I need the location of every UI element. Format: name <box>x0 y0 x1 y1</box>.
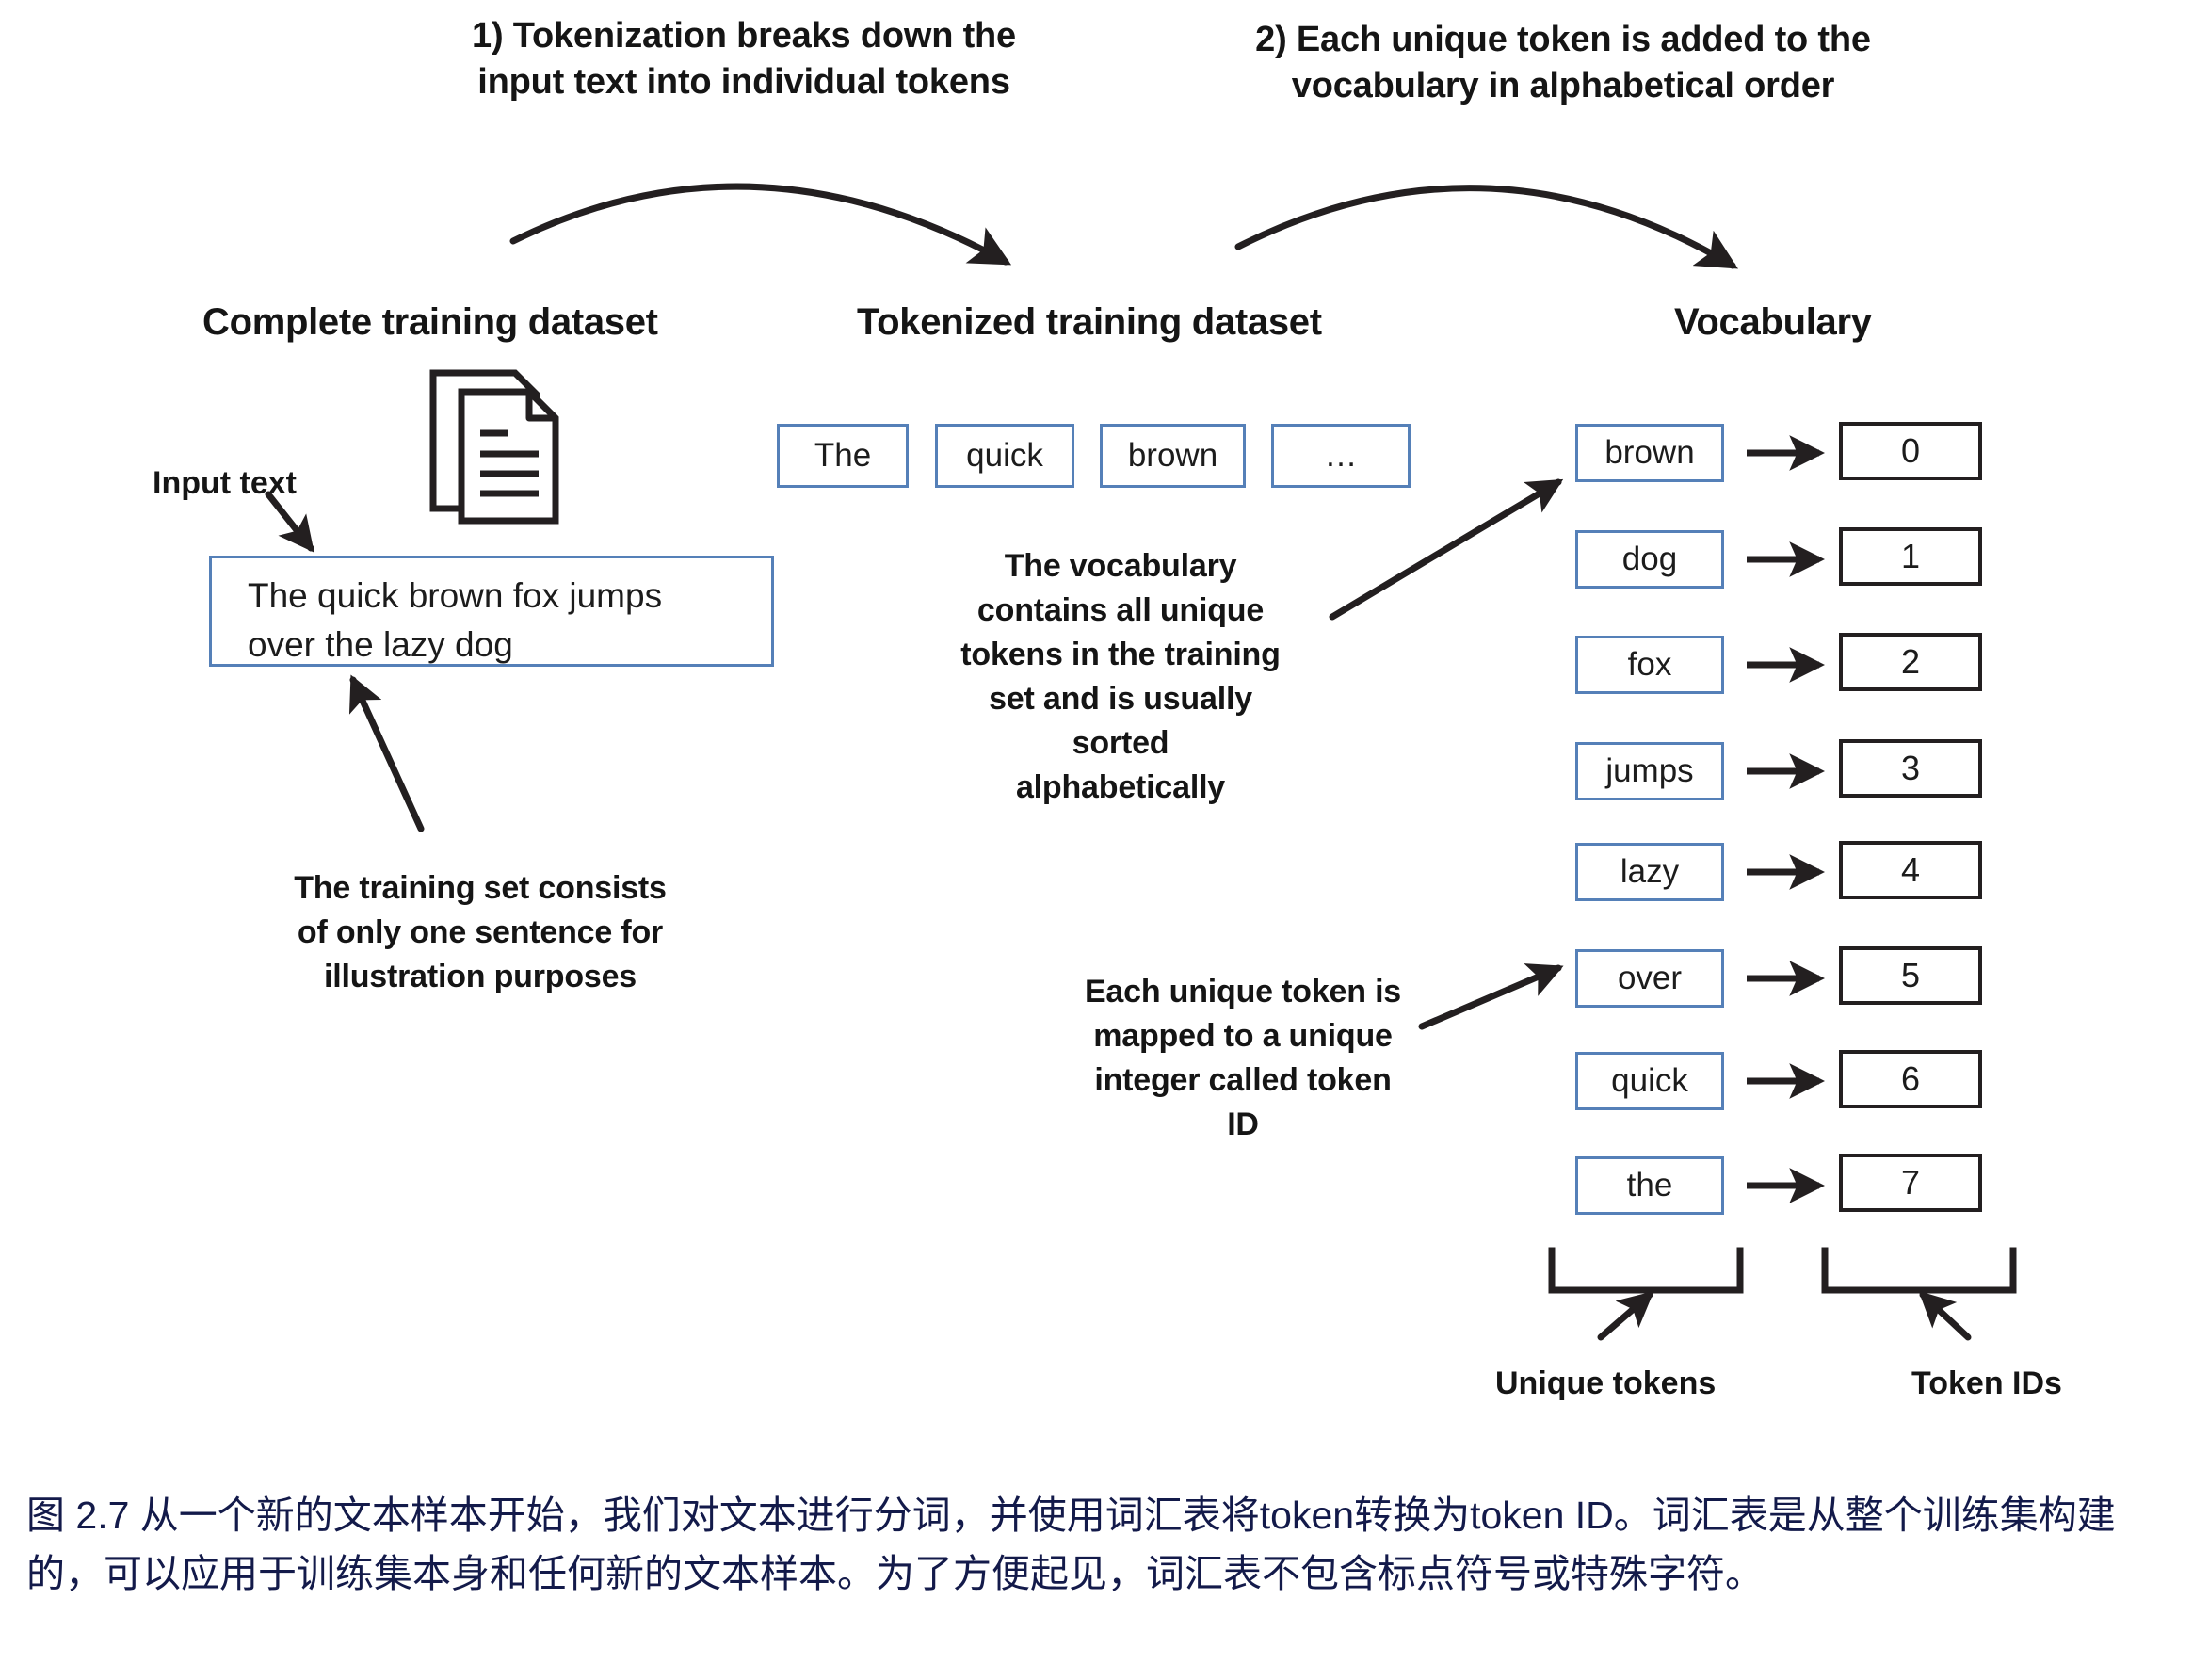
step-1-heading: 1) Tokenization breaks down the input te… <box>358 13 1130 105</box>
token-box[interactable]: The <box>777 424 909 488</box>
training-set-note: The training set consists of only one se… <box>245 866 716 999</box>
vocab-id-box[interactable]: 6 <box>1839 1050 1982 1108</box>
token-id-mapping-note: Each unique token is mapped to a unique … <box>1059 970 1427 1147</box>
bracket-unique-tokens <box>1552 1251 1740 1290</box>
token-box-ellipsis[interactable]: … <box>1271 424 1411 488</box>
vocab-id-box[interactable]: 1 <box>1839 527 1982 586</box>
vocab-token-box[interactable]: over <box>1575 949 1724 1008</box>
vocab-id-box[interactable]: 5 <box>1839 946 1982 1005</box>
vocab-id-box[interactable]: 0 <box>1839 422 1982 480</box>
vocab-token-box[interactable]: quick <box>1575 1052 1724 1110</box>
input-text-box[interactable]: The quick brown fox jumps over the lazy … <box>209 556 774 667</box>
input-text-label: Input text <box>153 465 297 502</box>
token-box[interactable]: quick <box>935 424 1074 488</box>
document-stack-icon <box>426 367 567 527</box>
vocab-token-box[interactable]: lazy <box>1575 843 1724 901</box>
arrow-unique-tokens-label <box>1601 1295 1650 1337</box>
arrow-input-text-label <box>268 494 311 548</box>
bracket-token-ids <box>1825 1251 2013 1290</box>
vocab-token-box[interactable]: dog <box>1575 530 1724 589</box>
vocab-id-box[interactable]: 2 <box>1839 633 1982 691</box>
vocab-token-box[interactable]: jumps <box>1575 742 1724 800</box>
heading-complete-training-dataset: Complete training dataset <box>202 301 658 344</box>
vocab-id-box[interactable]: 4 <box>1839 841 1982 899</box>
vocab-id-box[interactable]: 3 <box>1839 739 1982 798</box>
vocab-token-box[interactable]: fox <box>1575 636 1724 694</box>
heading-vocabulary: Vocabulary <box>1674 301 1872 344</box>
figure-caption: 图 2.7 从一个新的文本样本开始，我们对文本进行分词，并使用词汇表将token… <box>26 1486 2192 1604</box>
vocab-id-box[interactable]: 7 <box>1839 1154 1982 1212</box>
arrow-step-1 <box>513 186 1006 262</box>
arrow-vocabulary-note <box>1332 482 1558 617</box>
step-2-heading: 2) Each unique token is added to the voc… <box>1177 17 1949 108</box>
token-box[interactable]: brown <box>1100 424 1246 488</box>
vocab-token-box[interactable]: the <box>1575 1156 1724 1215</box>
vocab-token-box[interactable]: brown <box>1575 424 1724 482</box>
arrow-step-2 <box>1238 188 1733 266</box>
vocabulary-note: The vocabulary contains all unique token… <box>918 544 1323 809</box>
heading-tokenized-training-dataset: Tokenized training dataset <box>857 301 1322 344</box>
arrow-mapping-note <box>1422 968 1558 1026</box>
unique-tokens-bracket-label: Unique tokens <box>1495 1365 1716 1402</box>
token-ids-bracket-label: Token IDs <box>1911 1365 2062 1402</box>
figure-canvas: 1) Tokenization breaks down the input te… <box>0 0 2209 1680</box>
connector-overlay <box>0 0 2209 1680</box>
arrow-token-ids-label <box>1923 1295 1968 1337</box>
arrow-training-set-note <box>353 680 421 829</box>
